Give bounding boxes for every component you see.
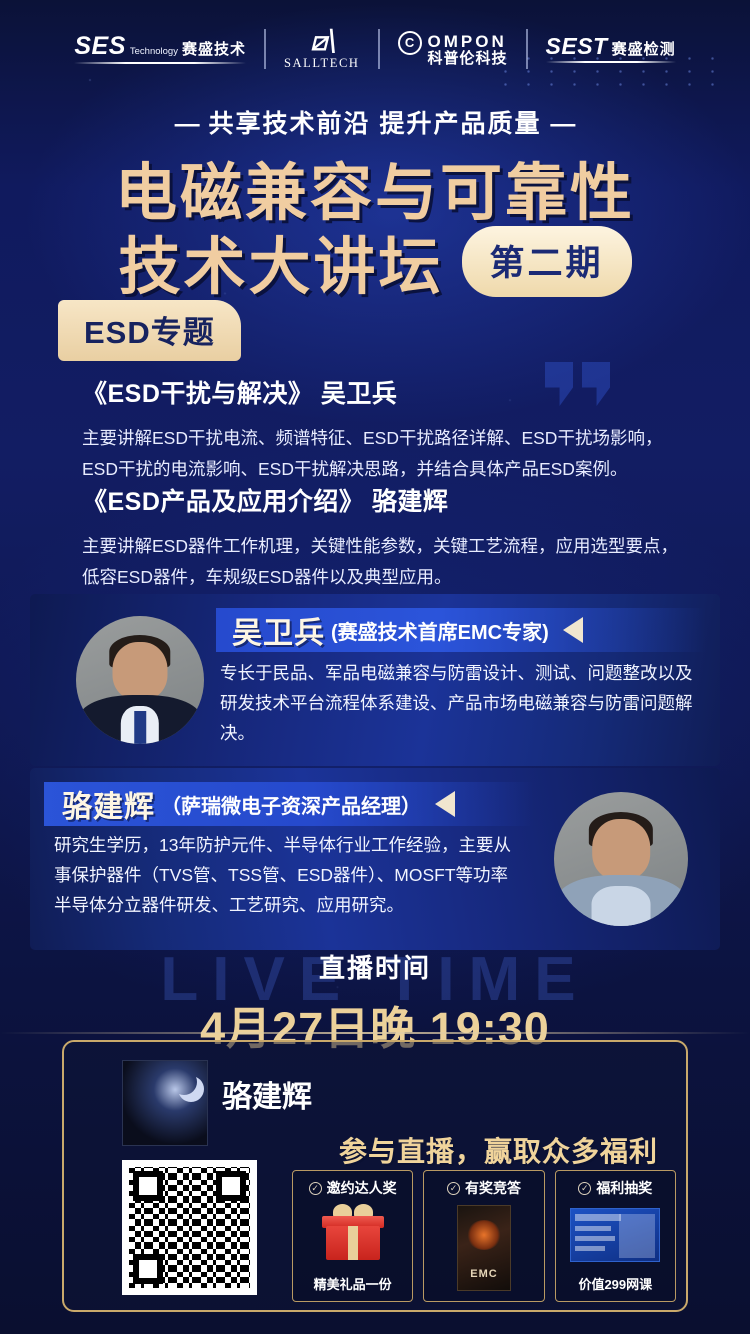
topic-tag: ESD专题 (58, 300, 241, 361)
speaker-panel: 吴卫兵 (赛盛技术首席EMC专家) 专长于民品、军品电磁兼容与防雷设计、测试、问… (30, 594, 720, 766)
check-circle-icon: ✓ (309, 1182, 322, 1195)
speaker-portrait-illustration (76, 616, 204, 744)
logo-ses-cn: 赛盛技术 (182, 42, 246, 57)
prize-card-footer: 精美礼品一份 (314, 1274, 392, 1293)
prize-card-title: 邀约达人奖 (327, 1178, 397, 1198)
check-circle-icon: ✓ (447, 1182, 460, 1195)
course-block: 《ESD产品及应用介绍》 骆建辉 主要讲解ESD器件工作机理，关键性能参数，关键… (82, 482, 682, 592)
contact-name: 骆建辉 (222, 1072, 312, 1116)
logo-salltech: ⧄⧹ SALLTECH (266, 28, 378, 70)
triangle-left-icon (563, 617, 583, 643)
course-block: 《ESD干扰与解决》 吴卫兵 主要讲解ESD干扰电流、频谱特征、ESD干扰路径详… (82, 374, 682, 484)
book-title: EMC (470, 1268, 497, 1280)
gift-icon (322, 1208, 384, 1260)
course-title: 《ESD产品及应用介绍》 骆建辉 (82, 482, 682, 518)
event-subtitle: — 共享技术前沿 提升产品质量 — (0, 104, 750, 140)
check-circle-icon: ✓ (578, 1182, 591, 1195)
course-description: 主要讲解ESD器件工作机理，关键性能参数，关键工艺流程，应用选型要点，低容ESD… (82, 531, 682, 592)
prize-card-list: ✓ 邀约达人奖 精美礼品一份 ✓ 有奖竞答 EMC ✓ 福利抽奖 (292, 1170, 676, 1302)
prize-card-title: 福利抽奖 (596, 1178, 652, 1198)
salltech-glyph: ⧄⧹ (311, 28, 333, 54)
prize-card-footer: 价值299网课 (578, 1274, 652, 1293)
speaker-name-bar: 骆建辉 （萨瑞微电子资深产品经理） (44, 782, 534, 826)
prize-card-header: ✓ 有奖竞答 (447, 1178, 521, 1198)
logo-underline (74, 62, 246, 64)
qr-code[interactable] (122, 1160, 257, 1295)
prize-card: ✓ 有奖竞答 EMC (423, 1170, 544, 1302)
edition-badge: 第二期 (462, 226, 632, 297)
qr-finder-icon (216, 1171, 246, 1201)
promo-slogan: 参与直播，赢取众多福利 (339, 1130, 658, 1170)
logo-compon-cn: 科普伦科技 (428, 50, 508, 67)
subtitle-dash-left: — (175, 110, 200, 138)
logo-ses-mark: SES (74, 34, 126, 59)
logo-sest-mark: SEST (546, 35, 608, 58)
subtitle-text: 共享技术前沿 提升产品质量 (209, 110, 542, 138)
logo-salltech-name: SALLTECH (284, 57, 360, 70)
speaker-bio: 专长于民品、军品电磁兼容与防雷设计、测试、问题整改以及研发技术平台流程体系建设、… (220, 658, 704, 748)
speaker-role: （萨瑞微电子资深产品经理） (161, 790, 421, 819)
prize-card: ✓ 邀约达人奖 精美礼品一份 (292, 1170, 413, 1302)
speaker-bio: 研究生学历，13年防护元件、半导体行业工作经验，主要从事保护器件（TVS管、TS… (54, 830, 524, 920)
live-time-label: 直播时间 (0, 948, 750, 985)
prize-card-header: ✓ 邀约达人奖 (309, 1178, 397, 1198)
prize-card-header: ✓ 福利抽奖 (578, 1178, 652, 1198)
course-description: 主要讲解ESD干扰电流、频谱特征、ESD干扰路径详解、ESD干扰场影响，ESD干… (82, 423, 682, 484)
book-icon: EMC (457, 1205, 511, 1291)
speaker-avatar (76, 616, 204, 744)
logo-ses-technology: SES Technology 赛盛技术 (56, 34, 264, 64)
speaker-name: 吴卫兵 (232, 608, 325, 652)
promo-panel: 骆建辉 参与直播，赢取众多福利 ✓ 邀约达人奖 精美礼品一份 ✓ 有奖竞答 (62, 1040, 688, 1312)
qr-finder-icon (133, 1171, 163, 1201)
divider-rule (0, 1032, 750, 1034)
moon-icon (171, 1069, 197, 1095)
logo-ses-sup: Technology (130, 47, 178, 57)
speaker-role: (赛盛技术首席EMC专家) (331, 616, 549, 645)
logo-compon: C OMPON 科普伦科技 (380, 31, 526, 68)
course-screenshot-icon (570, 1208, 660, 1262)
speaker-name-bar: 吴卫兵 (赛盛技术首席EMC专家) (216, 608, 706, 652)
course-title: 《ESD干扰与解决》 吴卫兵 (82, 374, 682, 410)
main-title-line2: 技术大讲坛 (118, 216, 443, 306)
main-title-line2-row: 技术大讲坛 第二期 (0, 216, 750, 306)
contact-avatar (122, 1060, 208, 1146)
speaker-panel: 骆建辉 （萨瑞微电子资深产品经理） 研究生学历，13年防护元件、半导体行业工作经… (30, 768, 720, 950)
logo-sest-cn: 赛盛检测 (612, 42, 676, 57)
compon-ring-icon: C (398, 31, 422, 55)
prize-card-title: 有奖竞答 (465, 1178, 521, 1198)
logo-compon-mark: OMPON (428, 32, 507, 51)
speaker-portrait-illustration (554, 792, 688, 926)
logo-underline (546, 61, 676, 63)
prize-card: ✓ 福利抽奖 价值299网课 (555, 1170, 676, 1302)
sponsor-logo-bar: SES Technology 赛盛技术 ⧄⧹ SALLTECH C OMPON … (0, 18, 750, 80)
speaker-name: 骆建辉 (62, 782, 155, 826)
logo-sest: SEST 赛盛检测 (528, 35, 694, 63)
qr-finder-icon (133, 1254, 163, 1284)
speaker-avatar (554, 792, 688, 926)
triangle-left-icon (435, 791, 455, 817)
subtitle-dash-right: — (550, 110, 575, 138)
